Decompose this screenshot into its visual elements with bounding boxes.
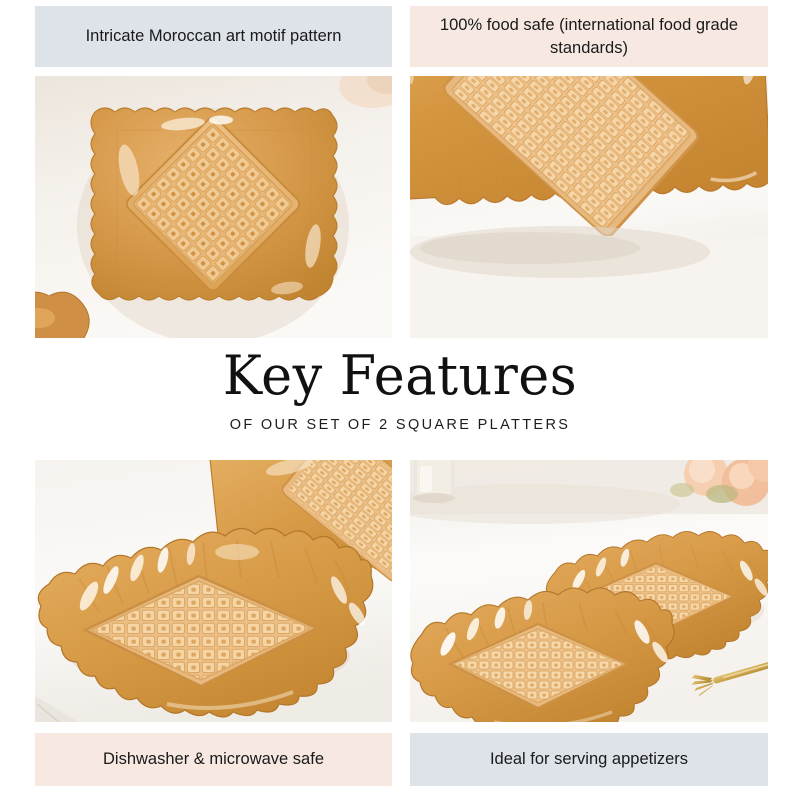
caption-bottom-right-text: Ideal for serving appetizers [490,748,688,770]
photo-top-left-art [35,76,392,338]
caption-top-right: 100% food safe (international food grade… [410,6,768,67]
product-photo-bottom-right [410,460,768,722]
photo-top-right-art [410,76,768,338]
caption-bottom-right: Ideal for serving appetizers [410,733,768,786]
key-features-title-block: Key Features OF OUR SET OF 2 SQUARE PLAT… [0,348,800,433]
infographic-canvas: Intricate Moroccan art motif pattern 100… [0,0,800,800]
photo-bottom-right-art [410,460,768,722]
photo-bottom-left-art [35,460,392,722]
caption-top-left-text: Intricate Moroccan art motif pattern [86,25,342,47]
caption-top-right-text: 100% food safe (international food grade… [420,14,758,59]
page-title: Key Features [12,348,788,403]
product-photo-top-left [35,76,392,338]
product-photo-top-right [410,76,768,338]
caption-bottom-left-text: Dishwasher & microwave safe [103,748,324,770]
caption-bottom-left: Dishwasher & microwave safe [35,733,392,786]
page-subtitle: OF OUR SET OF 2 SQUARE PLATTERS [0,417,800,433]
product-photo-bottom-left [35,460,392,722]
caption-top-left: Intricate Moroccan art motif pattern [35,6,392,67]
